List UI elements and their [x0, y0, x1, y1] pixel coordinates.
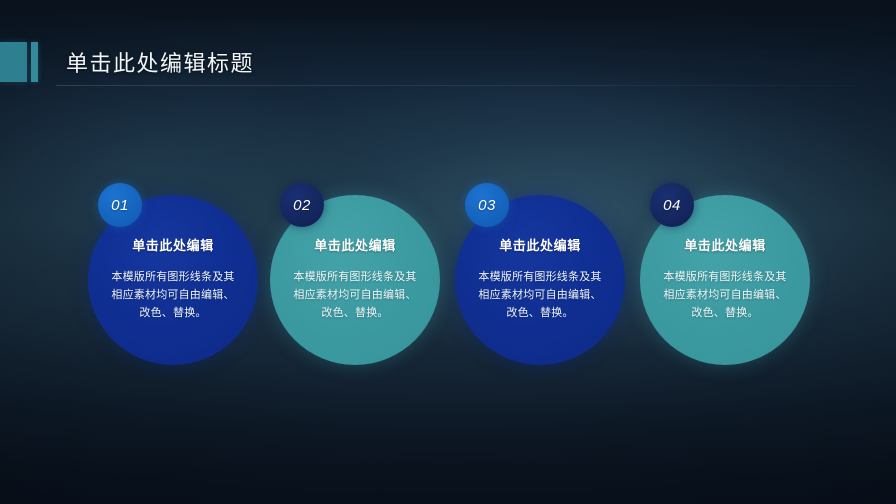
circle-card-description-02[interactable]: 本模版所有图形线条及其相应素材均可自由编辑、改色、替换。: [293, 268, 417, 322]
circle-card-heading-04[interactable]: 单击此处编辑: [684, 235, 766, 254]
circle-card-badge-02[interactable]: 02: [280, 183, 324, 227]
circle-card-description-03[interactable]: 本模版所有图形线条及其相应素材均可自由编辑、改色、替换。: [478, 268, 602, 322]
circle-card-number-03: 03: [478, 197, 496, 214]
presentation-slide: 单击此处编辑标题 单击此处编辑 本模版所有图形线条及其相应素材均可自由编辑、改色…: [0, 0, 896, 504]
circle-card-number-02: 02: [293, 197, 311, 214]
circle-card-heading-01[interactable]: 单击此处编辑: [132, 235, 214, 254]
circle-card-number-04: 04: [663, 197, 681, 214]
circle-card-02[interactable]: 单击此处编辑 本模版所有图形线条及其相应素材均可自由编辑、改色、替换。 02: [270, 195, 440, 365]
circle-card-description-01[interactable]: 本模版所有图形线条及其相应素材均可自由编辑、改色、替换。: [111, 268, 235, 322]
circle-card-row: 单击此处编辑 本模版所有图形线条及其相应素材均可自由编辑、改色、替换。 01 单…: [0, 0, 896, 504]
circle-card-badge-04[interactable]: 04: [650, 183, 694, 227]
circle-card-heading-03[interactable]: 单击此处编辑: [499, 235, 581, 254]
circle-card-description-04[interactable]: 本模版所有图形线条及其相应素材均可自由编辑、改色、替换。: [663, 268, 787, 322]
circle-card-04[interactable]: 单击此处编辑 本模版所有图形线条及其相应素材均可自由编辑、改色、替换。 04: [640, 195, 810, 365]
circle-card-badge-01[interactable]: 01: [98, 183, 142, 227]
circle-card-heading-02[interactable]: 单击此处编辑: [314, 235, 396, 254]
circle-card-number-01: 01: [111, 197, 129, 214]
circle-card-03[interactable]: 单击此处编辑 本模版所有图形线条及其相应素材均可自由编辑、改色、替换。 03: [455, 195, 625, 365]
circle-card-01[interactable]: 单击此处编辑 本模版所有图形线条及其相应素材均可自由编辑、改色、替换。 01: [88, 195, 258, 365]
circle-card-badge-03[interactable]: 03: [465, 183, 509, 227]
